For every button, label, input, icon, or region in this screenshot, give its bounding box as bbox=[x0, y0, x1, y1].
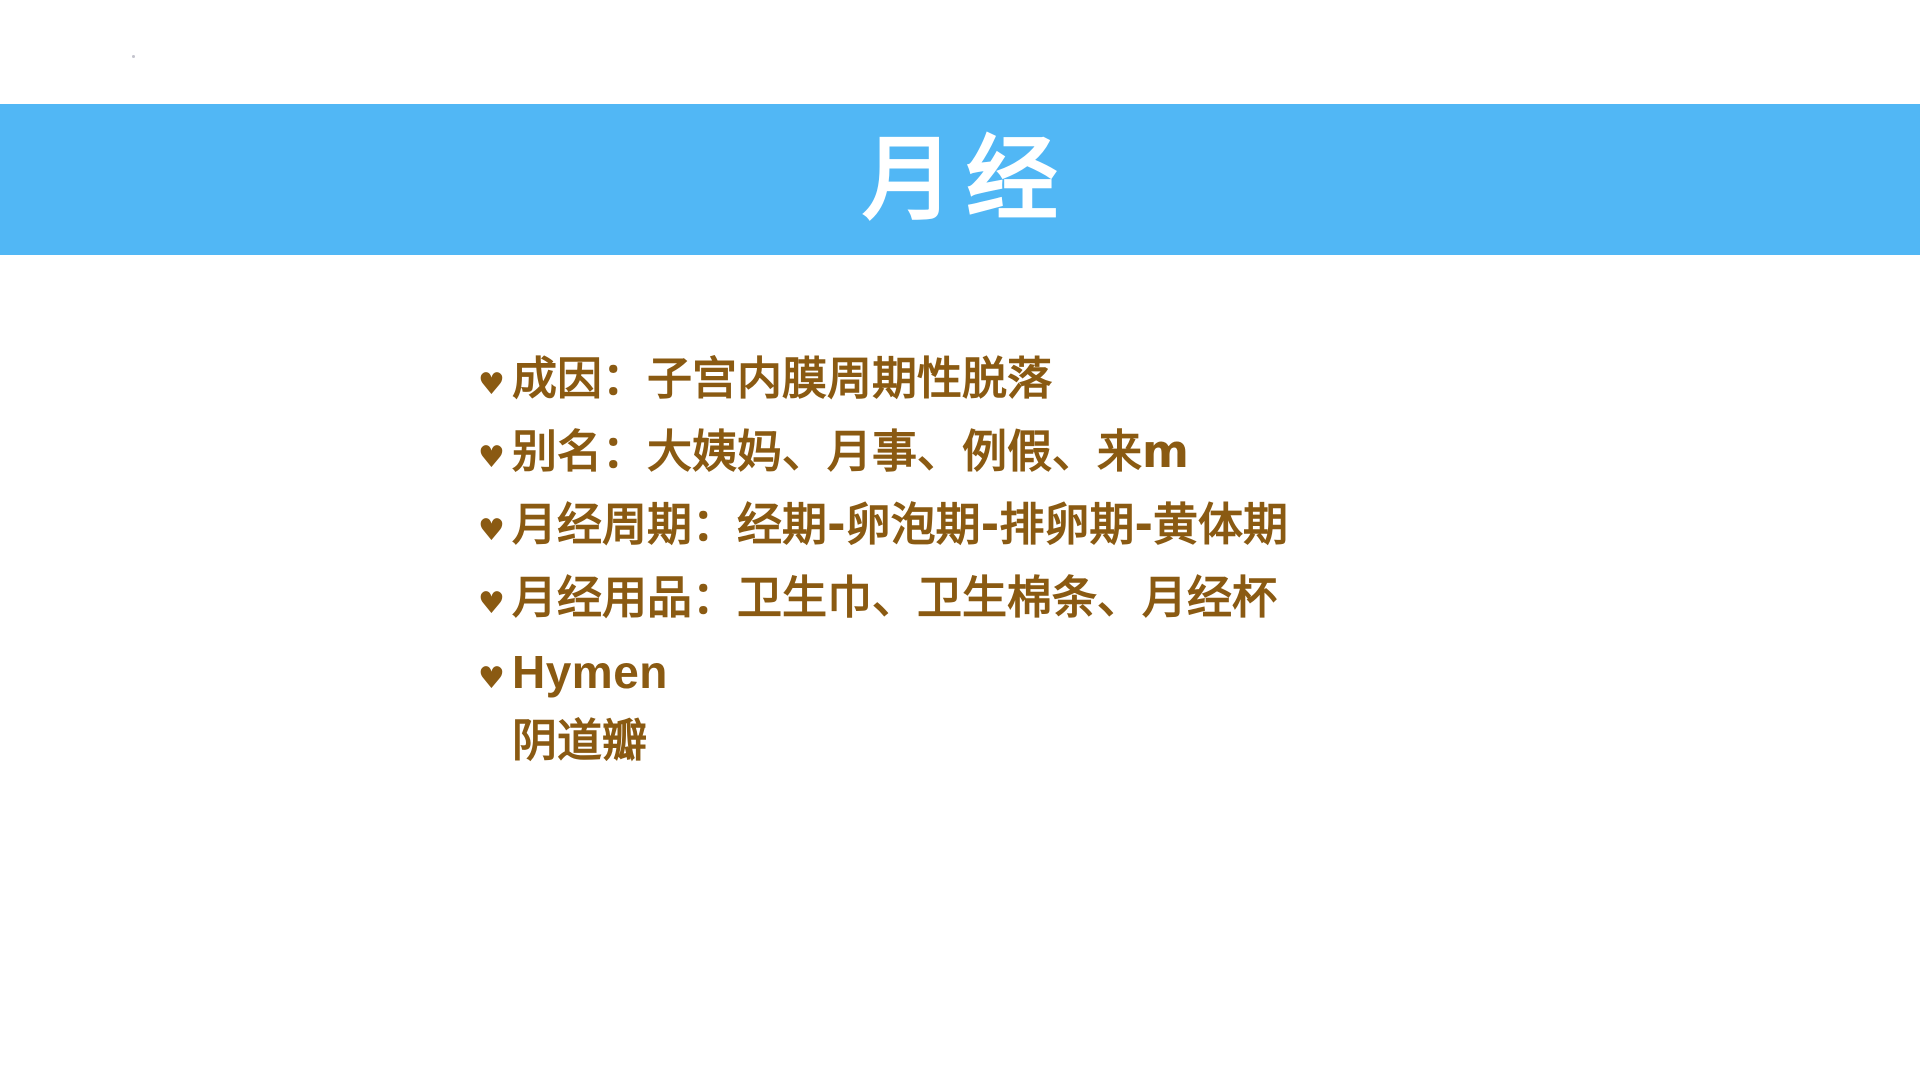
heart-bullet-icon: ♥ bbox=[478, 664, 512, 694]
list-item: ♥ 月经周期：经期-卵泡期-排卵期-黄体期 bbox=[478, 498, 1778, 553]
stray-dot-artifact bbox=[132, 55, 135, 58]
heart-bullet-icon: ♥ bbox=[478, 589, 512, 619]
list-item-label: 成因：子宫内膜周期性脱落 bbox=[512, 352, 1052, 407]
heart-bullet-icon: ♥ bbox=[478, 443, 512, 473]
list-item: ♥ 月经用品：卫生巾、卫生棉条、月经杯 bbox=[478, 571, 1778, 626]
list-item-label: 别名：大姨妈、月事、例假、来m bbox=[512, 425, 1189, 480]
heart-bullet-icon: ♥ bbox=[478, 370, 512, 400]
page-title: 月经 bbox=[850, 134, 1070, 226]
bullet-list: ♥ 成因：子宫内膜周期性脱落 ♥ 别名：大姨妈、月事、例假、来m ♥ 月经周期：… bbox=[478, 352, 1778, 769]
list-item-label: Hymen bbox=[512, 644, 668, 700]
list-item-label: 月经用品：卫生巾、卫生棉条、月经杯 bbox=[512, 571, 1277, 626]
slide-title-banner: 月经 bbox=[0, 104, 1920, 255]
list-item-subline: 阴道瓣 bbox=[512, 714, 1778, 769]
list-item: ♥ Hymen bbox=[478, 644, 1778, 700]
list-item-label: 月经周期：经期-卵泡期-排卵期-黄体期 bbox=[512, 498, 1288, 553]
heart-bullet-icon: ♥ bbox=[478, 516, 512, 546]
list-item: ♥ 成因：子宫内膜周期性脱落 bbox=[478, 352, 1778, 407]
list-item: ♥ 别名：大姨妈、月事、例假、来m bbox=[478, 425, 1778, 480]
